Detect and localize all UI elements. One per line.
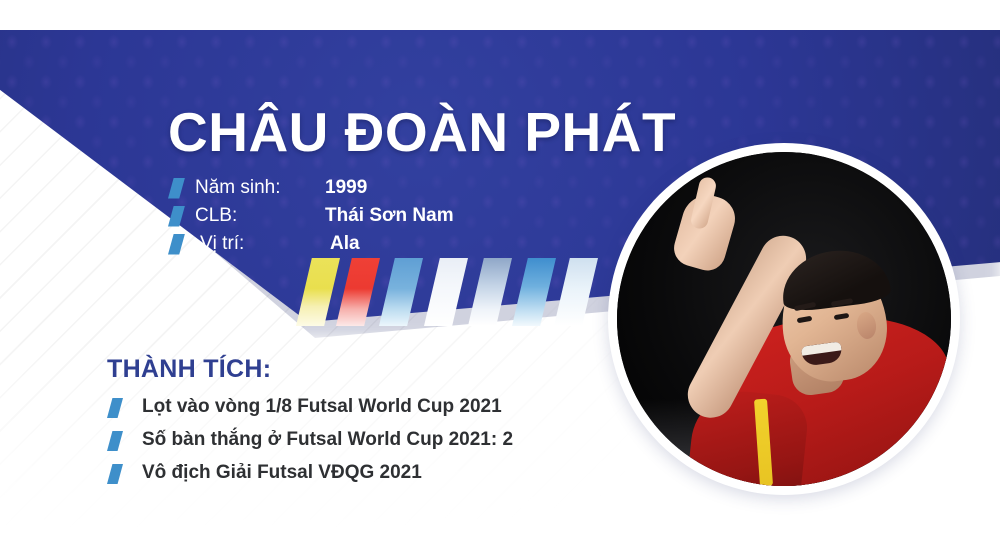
list-item: Số bàn thắng ở Futsal World Cup 2021: 2 — [107, 429, 667, 451]
list-item: Vô địch Giải Futsal VĐQG 2021 — [107, 462, 667, 484]
info-label-club: CLB: — [195, 205, 325, 227]
info-label-position: Vị trí: — [195, 233, 330, 255]
achievement-text: Lọt vào vòng 1/8 Futsal World Cup 2021 — [142, 396, 502, 418]
chevron-slash-icon — [107, 464, 123, 484]
chevron-slash-icon — [107, 431, 123, 451]
top-white-band — [0, 0, 1000, 30]
chevron-slash-icon — [168, 206, 185, 227]
chevron-slash-icon — [107, 398, 123, 418]
achievements-heading: THÀNH TÍCH: — [107, 355, 271, 384]
achievements-list: Lọt vào vòng 1/8 Futsal World Cup 2021 S… — [107, 396, 667, 495]
player-portrait-photo — [617, 152, 951, 486]
info-value-birth-year: 1999 — [325, 177, 367, 199]
info-value-position: Ala — [330, 233, 360, 255]
info-label-birth-year: Năm sinh: — [195, 177, 325, 199]
chevron-slash-icon — [168, 178, 185, 199]
info-row-club: CLB: Thái Sơn Nam — [168, 202, 588, 230]
achievement-text: Số bàn thắng ở Futsal World Cup 2021: 2 — [142, 429, 513, 451]
info-row-position: Vị trí: Ala — [168, 230, 588, 258]
player-portrait — [608, 143, 960, 495]
achievement-text: Vô địch Giải Futsal VĐQG 2021 — [142, 462, 422, 484]
page-title: CHÂU ĐOÀN PHÁT — [168, 100, 676, 164]
list-item: Lọt vào vòng 1/8 Futsal World Cup 2021 — [107, 396, 667, 418]
player-info-list: Năm sinh: 1999 CLB: Thái Sơn Nam Vị trí:… — [168, 174, 588, 258]
player-profile-infographic: CHÂU ĐOÀN PHÁT Năm sinh: 1999 CLB: Thái … — [0, 0, 1000, 537]
chevron-slash-icon — [168, 234, 185, 255]
info-row-birth-year: Năm sinh: 1999 — [168, 174, 588, 202]
info-value-club: Thái Sơn Nam — [325, 205, 454, 227]
